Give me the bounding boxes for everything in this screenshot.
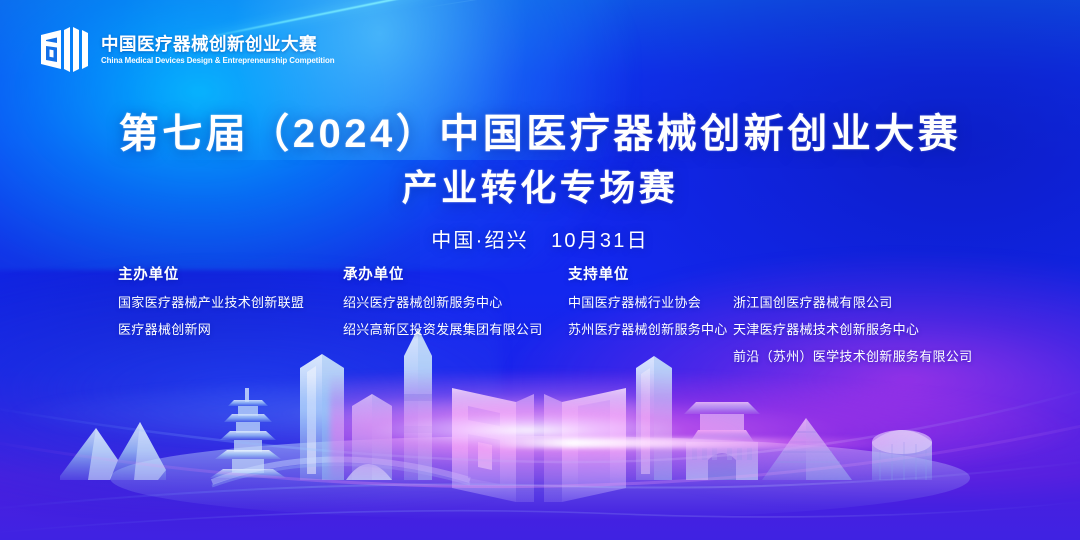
poster-canvas: 中国医疗器械创新创业大赛 China Medical Devices Desig… [0,0,1080,540]
brand-name-cn: 中国医疗器械创新创业大赛 [101,35,342,53]
organiser-item: 绍兴医疗器械创新服务中心 [343,296,568,309]
column-heading: 支持单位 [568,268,733,283]
event-location-date: 中国·绍兴 10月31日 [0,229,1080,253]
organiser-column-undertaker: 承办单位 绍兴医疗器械创新服务中心 绍兴高新区投资发展集团有限公司 [343,268,568,336]
organiser-item: 医疗器械创新网 [118,323,343,336]
organiser-item: 前沿（苏州）医学技术创新服务有限公司 [733,350,1003,363]
page-title: 第七届（2024）中国医疗器械创新创业大赛 [0,110,1080,159]
column-heading: 主办单位 [118,268,343,283]
hero-title-block: 第七届（2024）中国医疗器械创新创业大赛 产业转化专场赛 中国·绍兴 10月3… [0,110,1080,253]
organiser-column-supporter: 支持单位 中国医疗器械行业协会 苏州医疗器械创新服务中心 [568,268,733,336]
horizon-flare-core [480,438,900,448]
brand-logo: 中国医疗器械创新创业大赛 China Medical Devices Desig… [38,24,342,74]
organiser-column-host: 主办单位 国家医疗器械产业技术创新联盟 医疗器械创新网 [118,268,343,336]
organiser-item: 绍兴高新区投资发展集团有限公司 [343,323,568,336]
organiser-item: 浙江国创医疗器械有限公司 [733,296,1003,309]
organiser-item: 苏州医疗器械创新服务中心 [568,323,733,336]
brand-name-en: China Medical Devices Design & Entrepren… [101,56,334,65]
column-heading: 承办单位 [343,268,568,283]
organisers-section: 主办单位 国家医疗器械产业技术创新联盟 医疗器械创新网 承办单位 绍兴医疗器械创… [118,268,1003,363]
page-subtitle: 产业转化专场赛 [0,166,1080,209]
organiser-column-supporter-continued: 浙江国创医疗器械有限公司 天津医疗器械技术创新服务中心 前沿（苏州）医学技术创新… [733,268,1003,363]
organiser-item: 天津医疗器械技术创新服务中心 [733,323,1003,336]
organiser-item: 中国医疗器械行业协会 [568,296,733,309]
organiser-item: 国家医疗器械产业技术创新联盟 [118,296,343,309]
open-book-door-logo-icon [38,24,90,74]
